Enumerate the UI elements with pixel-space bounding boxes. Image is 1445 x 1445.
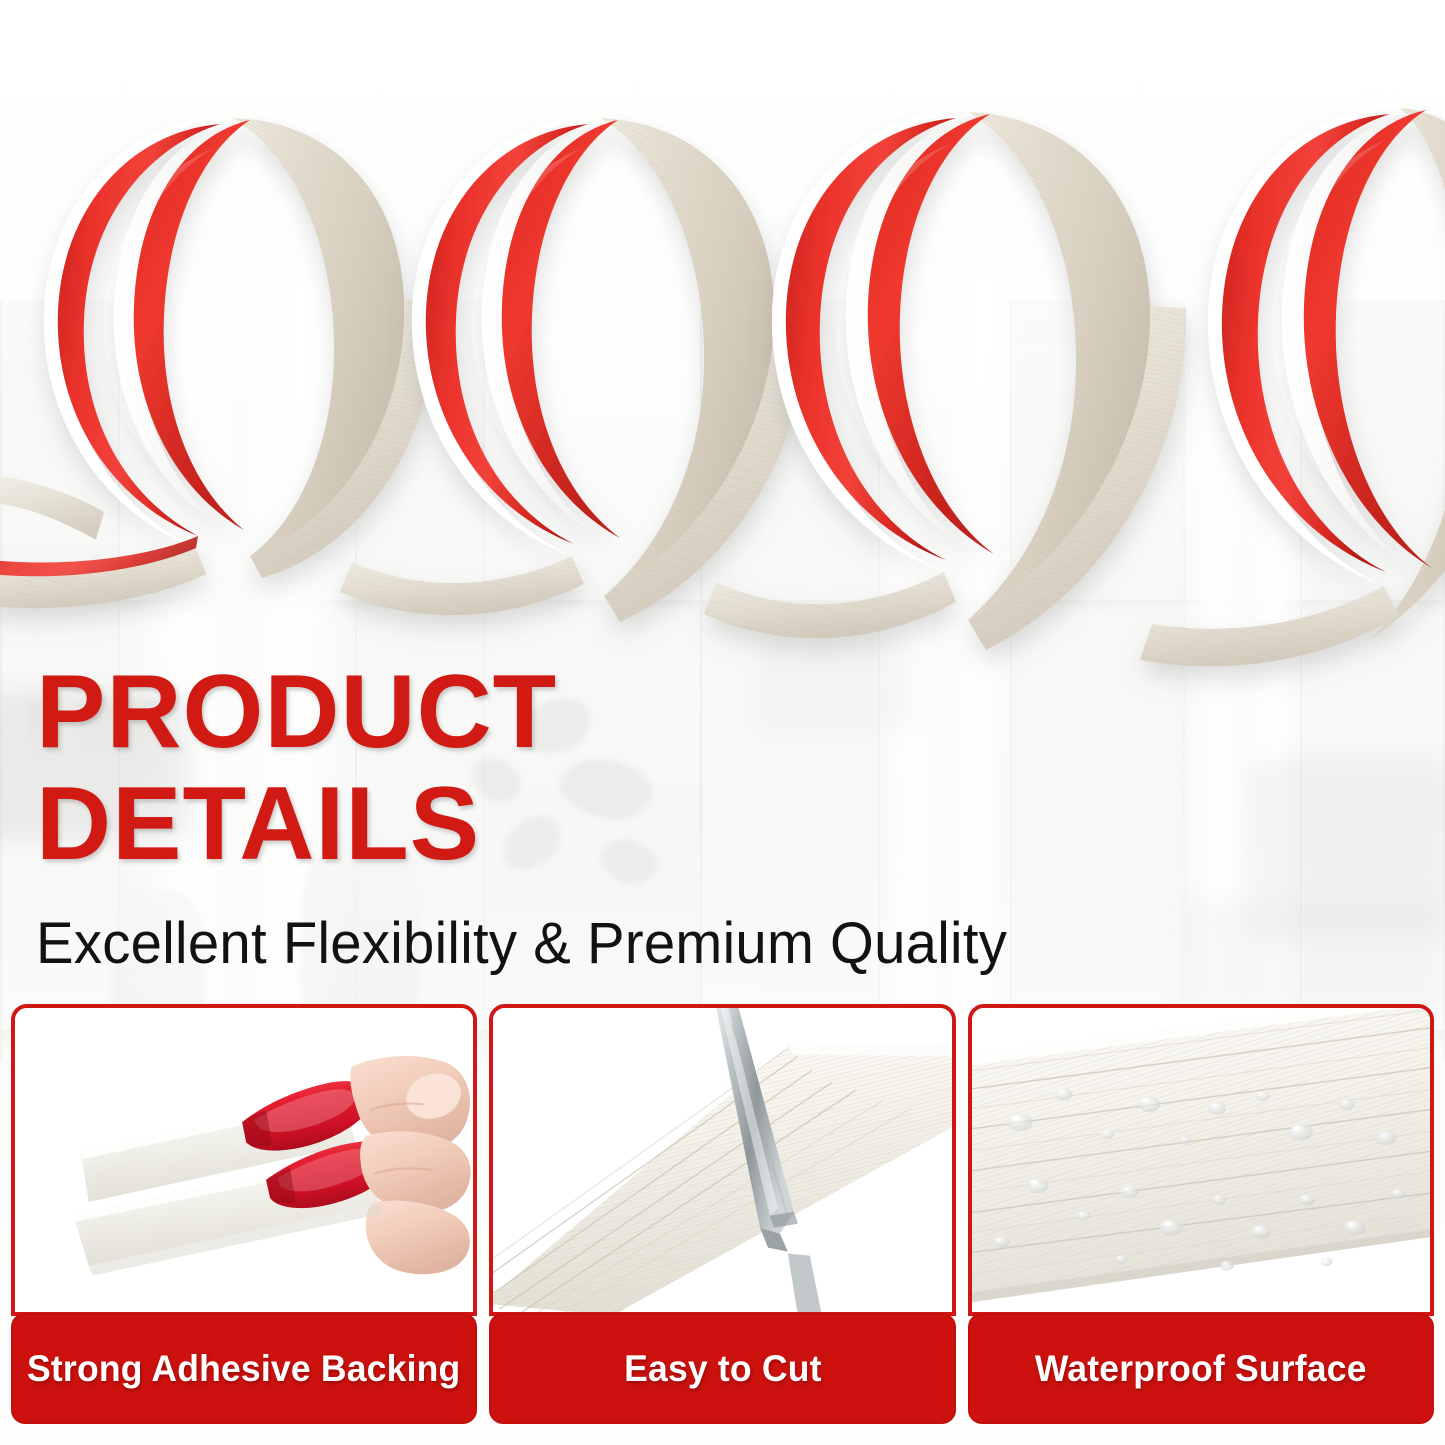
blade-cutting-strip-photo (489, 1004, 955, 1316)
waterproof-surface-illustration (972, 1008, 1430, 1312)
page-subtitle: Excellent Flexibility & Premium Quality (36, 912, 1007, 976)
feature-caption: Strong Adhesive Backing (11, 1313, 477, 1424)
feature-caption: Easy to Cut (489, 1313, 955, 1424)
edge-banding-coil (1140, 106, 1445, 666)
adhesive-backing-illustration (15, 1008, 473, 1312)
title-line-2: DETAILS (36, 774, 796, 876)
edge-banding-coils (0, 0, 1445, 720)
page-title: PRODUCT DETAILS (36, 662, 796, 876)
feature-card[interactable]: Waterproof Surface (968, 1004, 1434, 1424)
feature-card[interactable]: Easy to Cut (489, 1004, 955, 1424)
feature-caption-label: Waterproof Surface (1035, 1348, 1367, 1390)
title-line-1: PRODUCT (36, 662, 796, 764)
product-details-infographic: PRODUCT DETAILS Excellent Flexibility & … (0, 0, 1445, 1445)
edge-banding-coil (0, 116, 437, 608)
feature-card[interactable]: Strong Adhesive Backing (11, 1004, 477, 1424)
edge-banding-tail (0, 474, 104, 540)
hand-peeling-red-adhesive-tabs-photo (11, 1004, 477, 1316)
feature-card-row: Strong Adhesive Backing (11, 1004, 1434, 1424)
feature-caption-label: Strong Adhesive Backing (27, 1348, 460, 1390)
water-droplets-on-strip-photo (968, 1004, 1434, 1316)
feature-caption: Waterproof Surface (968, 1313, 1434, 1424)
coil-illustration (0, 0, 1445, 720)
easy-to-cut-illustration (493, 1008, 951, 1312)
feature-caption-label: Easy to Cut (624, 1348, 822, 1390)
